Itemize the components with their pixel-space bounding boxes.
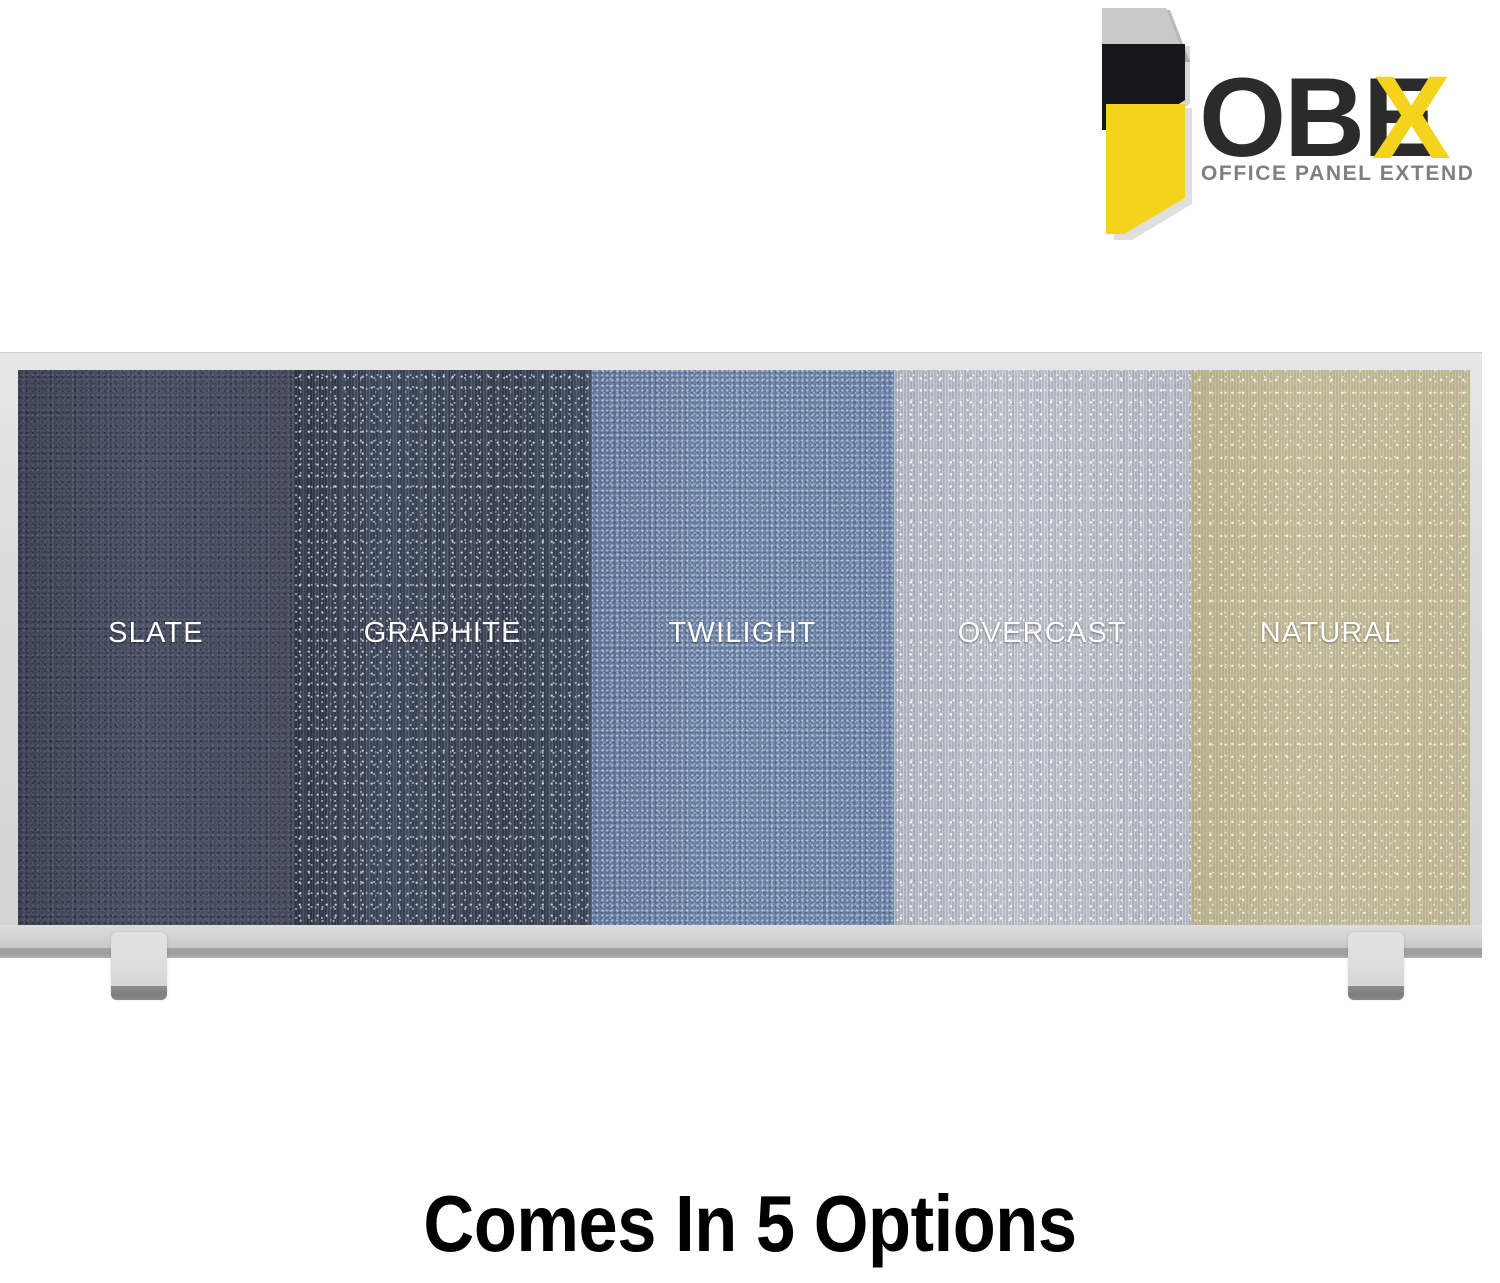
logo-wordmark: OBE X OFFICE PANEL EXTENDERS [1199, 52, 1472, 185]
logo-tagline: OFFICE PANEL EXTENDERS [1201, 162, 1472, 185]
swatch-slate[interactable]: SLATE [18, 370, 294, 925]
panel-frame: SLATE GRAPHITE TWILIGHT OVERCAST NATURAL [0, 352, 1482, 948]
swatch-overcast[interactable]: OVERCAST [894, 370, 1192, 925]
swatch-natural[interactable]: NATURAL [1191, 370, 1470, 925]
swatch-label-natural: NATURAL [1191, 617, 1470, 650]
swatch-graphite[interactable]: GRAPHITE [294, 370, 592, 925]
privacy-panel-product-image: SLATE GRAPHITE TWILIGHT OVERCAST NATURAL [0, 352, 1500, 1012]
mounting-bracket-right [1348, 932, 1404, 1000]
swatch-label-overcast: OVERCAST [894, 617, 1192, 650]
obex-logo: OBE X OFFICE PANEL EXTENDERS [1072, 8, 1472, 258]
fabric-swatch-strip: SLATE GRAPHITE TWILIGHT OVERCAST NATURAL [18, 370, 1470, 925]
mounting-bracket-left [111, 932, 167, 1000]
panel-bottom-rail [0, 925, 1482, 948]
options-caption: Comes In 5 Options [90, 1178, 1410, 1270]
fabric-swatch-well: SLATE GRAPHITE TWILIGHT OVERCAST NATURAL [18, 370, 1470, 925]
swatch-label-slate: SLATE [18, 617, 294, 650]
logo-mark-icon [1102, 8, 1192, 240]
obex-logo-svg: OBE X OFFICE PANEL EXTENDERS [1072, 8, 1472, 258]
swatch-twilight[interactable]: TWILIGHT [592, 370, 894, 925]
panel-bottom-shadow [0, 948, 1482, 958]
swatch-label-graphite: GRAPHITE [294, 617, 592, 650]
swatch-label-twilight: TWILIGHT [592, 617, 894, 650]
